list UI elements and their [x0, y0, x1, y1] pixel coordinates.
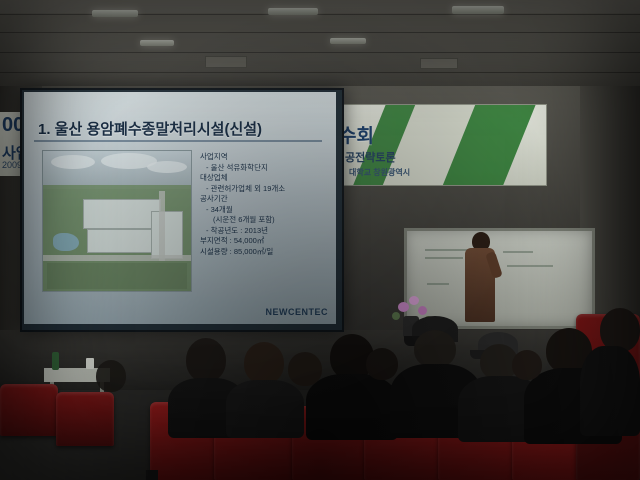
wall-banner: 수회 공전략토론 대학교 창원광역시 [330, 104, 547, 186]
list-item: 공사기간 [200, 194, 328, 205]
ceiling-light [92, 10, 138, 17]
seat [0, 384, 58, 436]
slide-bullet-list: 사업지역 - 울산 석유화학단지 대상업체 - 관련허가업체 외 19개소 공사… [200, 152, 328, 257]
whiteboard [404, 228, 595, 329]
slide-photo [42, 150, 192, 292]
ceiling-light [452, 6, 504, 14]
slide-title: 1. 울산 용암폐수종말처리시설(신설) [38, 118, 328, 139]
photo-scene: 00 사업 2009 수회 공전략토론 대학교 창원광역시 1. 울산 용암폐수… [0, 0, 640, 480]
list-item: - 울산 석유화학단지 [200, 163, 328, 174]
seat [56, 392, 114, 446]
banner-subtitle: 공전략토론 [345, 149, 545, 165]
projected-slide: 1. 울산 용암폐수종말처리시설(신설) 사업지역 - 울산 석유화학단지 대상… [24, 92, 336, 324]
banner-subtitle-2: 대학교 창원광역시 [349, 167, 547, 178]
list-item: - 관련허가업체 외 19개소 [200, 184, 328, 195]
banner-title: 수회 [339, 121, 539, 148]
cup [86, 358, 94, 369]
list-item: 부지면적 : 54,000㎡ [200, 236, 328, 247]
ceiling-light [140, 40, 174, 46]
list-item: 사업지역 [200, 152, 328, 163]
ceiling [0, 0, 640, 86]
ceiling-vent [205, 56, 247, 68]
list-item: - 34개월 [200, 205, 328, 216]
ceiling-vent [420, 58, 458, 69]
list-item: 대상업체 [200, 173, 328, 184]
list-item: (시운전 6개월 포함) [200, 215, 328, 226]
list-item: - 착공년도 : 2013년 [200, 226, 328, 237]
ceiling-light [330, 38, 366, 44]
ceiling-light [268, 8, 318, 15]
list-item: 시설용량 : 85,000㎥/일 [200, 247, 328, 258]
slide-title-underline [34, 140, 322, 142]
slide-logo: NEWCENTEC [266, 307, 329, 317]
bottle [52, 352, 59, 370]
